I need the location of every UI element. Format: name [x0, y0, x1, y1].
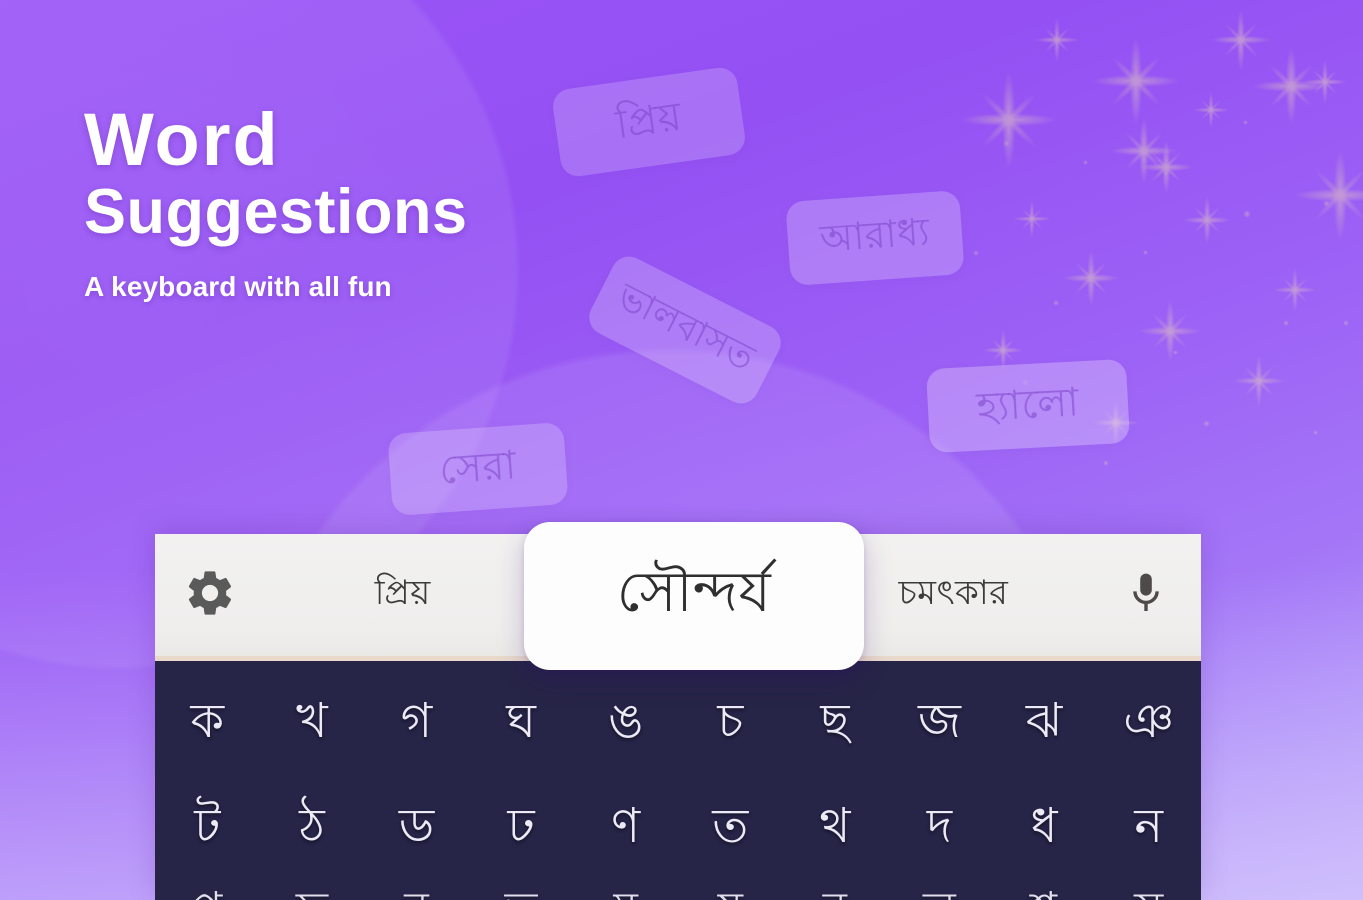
- keyboard-key[interactable]: ন: [1096, 803, 1201, 851]
- keyboard-key[interactable]: থ: [783, 803, 888, 851]
- gear-icon: [183, 566, 237, 625]
- keyboard-key[interactable]: ব: [364, 887, 469, 900]
- keyboard-key[interactable]: ভ: [469, 887, 574, 900]
- floating-word-chip: হ্যালো: [926, 359, 1130, 453]
- hero-title-line2: Suggestions: [84, 179, 724, 245]
- keyboard-key[interactable]: ড: [364, 803, 469, 851]
- keyboard-key[interactable]: ছ: [783, 698, 888, 746]
- keyboard-key[interactable]: প: [155, 887, 260, 900]
- floating-word-chip: সেরা: [387, 422, 568, 516]
- microphone-icon: [1122, 569, 1170, 622]
- keyboard-key[interactable]: জ: [887, 698, 992, 746]
- keyboard-key[interactable]: ক: [155, 698, 260, 746]
- keyboard-key[interactable]: শ: [992, 887, 1097, 900]
- keyboard-key[interactable]: ত: [678, 803, 783, 851]
- suggestion-popup[interactable]: সৌন্দর্য: [524, 522, 864, 670]
- keyboard-key[interactable]: ণ: [573, 803, 678, 851]
- keyboard-key[interactable]: ধ: [992, 803, 1097, 851]
- keyboard-key[interactable]: গ: [364, 698, 469, 746]
- keyboard-key[interactable]: ম: [573, 887, 678, 900]
- keyboard-key[interactable]: স: [1096, 887, 1201, 900]
- promo-banner: Word Suggestions A keyboard with all fun…: [0, 0, 1363, 900]
- keyboard-key[interactable]: র: [783, 887, 888, 900]
- keyboard-key[interactable]: ঘ: [469, 698, 574, 746]
- keyboard-key[interactable]: ল: [887, 887, 992, 900]
- keyboard-key[interactable]: চ: [678, 698, 783, 746]
- settings-button[interactable]: [155, 566, 265, 625]
- keyboard-key[interactable]: ঝ: [992, 698, 1097, 746]
- keyboard-key[interactable]: দ: [887, 803, 992, 851]
- suggestion-left[interactable]: প্রিয়: [265, 567, 540, 624]
- key-row-2: টঠডঢণতথদধন: [155, 774, 1201, 879]
- keyboard-key[interactable]: ট: [155, 803, 260, 851]
- keyboard-keys: কখগঘঙচছজঝঞ টঠডঢণতথদধন পফবভমযরলশস: [155, 661, 1201, 900]
- keyboard-key[interactable]: ঠ: [260, 803, 365, 851]
- keyboard-key[interactable]: ঙ: [573, 698, 678, 746]
- keyboard-key[interactable]: খ: [260, 698, 365, 746]
- keyboard-key[interactable]: ঢ: [469, 803, 574, 851]
- voice-input-button[interactable]: [1091, 569, 1201, 622]
- key-row-1: কখগঘঙচছজঝঞ: [155, 669, 1201, 774]
- keyboard-key[interactable]: ফ: [260, 887, 365, 900]
- keyboard-key[interactable]: ঞ: [1096, 698, 1201, 746]
- floating-word-chip: আরাধ্য: [785, 190, 964, 286]
- key-row-3: পফবভমযরলশস: [155, 879, 1201, 900]
- keyboard-key[interactable]: য: [678, 887, 783, 900]
